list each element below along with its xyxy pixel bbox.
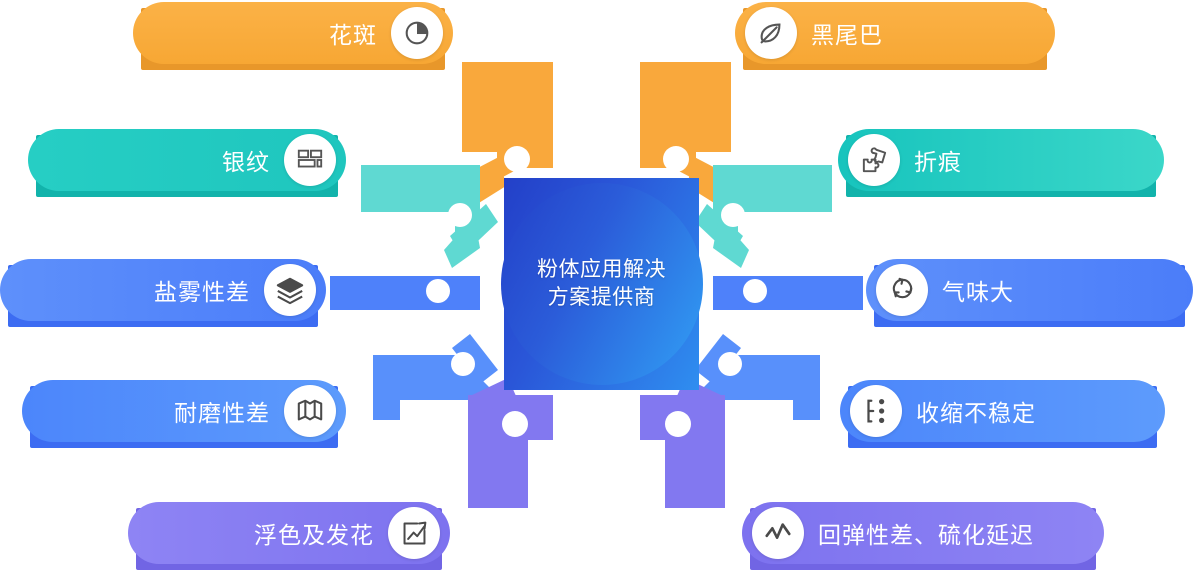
node-label: 气味大: [942, 273, 1014, 307]
connector-dot: [665, 411, 691, 437]
node-pill: 折痕: [838, 129, 1164, 191]
connector-dot: [743, 279, 767, 303]
node-n10[interactable]: 回弹性差、硫化延迟: [742, 502, 1104, 564]
node-pill: 银纹: [28, 129, 346, 191]
connector-n8: [695, 334, 820, 420]
pie-chart-icon: [391, 7, 443, 59]
connector-dot: [663, 146, 689, 172]
connector-dot: [426, 279, 450, 303]
connector-n10: [640, 378, 725, 508]
node-pill: 气味大: [866, 259, 1193, 321]
connector-dot: [451, 352, 475, 376]
puzzle-icon: [848, 134, 900, 186]
layers-icon: [264, 264, 316, 316]
node-label: 回弹性差、硫化延迟: [818, 516, 1034, 550]
node-label: 花斑: [329, 16, 377, 50]
node-n1[interactable]: 花斑: [133, 2, 453, 64]
node-pill: 耐磨性差: [22, 380, 346, 442]
connector-n7: [373, 334, 498, 420]
node-n8[interactable]: 收缩不稳定: [840, 380, 1165, 442]
center-node[interactable]: 粉体应用解决 方案提供商: [504, 178, 699, 390]
node-pill: 回弹性差、硫化延迟: [742, 502, 1104, 564]
node-label: 银纹: [222, 143, 270, 177]
node-n4[interactable]: 折痕: [838, 129, 1164, 191]
node-label: 折痕: [914, 143, 962, 177]
node-pill: 收缩不稳定: [840, 380, 1165, 442]
connector-dot: [504, 146, 530, 172]
recycle-icon: [876, 264, 928, 316]
node-label: 收缩不稳定: [916, 394, 1036, 428]
node-n3[interactable]: 银纹: [28, 129, 346, 191]
connector-n6: [713, 276, 863, 310]
node-n2[interactable]: 黑尾巴: [735, 2, 1055, 64]
sitemap-icon: [850, 385, 902, 437]
node-n9[interactable]: 浮色及发花: [128, 502, 450, 564]
brick-wall-icon: [284, 134, 336, 186]
node-pill: 盐雾性差: [0, 259, 326, 321]
node-label: 耐磨性差: [174, 394, 270, 428]
node-label: 黑尾巴: [811, 16, 883, 50]
line-chart-icon: [752, 507, 804, 559]
center-label: 粉体应用解决 方案提供商: [537, 256, 666, 311]
node-pill: 花斑: [133, 2, 453, 64]
connector-n4: [695, 165, 832, 268]
connector-n9: [468, 378, 553, 508]
node-n6[interactable]: 气味大: [866, 259, 1193, 321]
connector-dot: [502, 411, 528, 437]
connector-n3: [361, 165, 498, 268]
trend-up-icon: [388, 507, 440, 559]
node-label: 浮色及发花: [254, 516, 374, 550]
connector-dot: [718, 352, 742, 376]
open-book-icon: [284, 385, 336, 437]
connector-dot: [721, 203, 745, 227]
node-n5[interactable]: 盐雾性差: [0, 259, 326, 321]
node-pill: 浮色及发花: [128, 502, 450, 564]
node-pill: 黑尾巴: [735, 2, 1055, 64]
infographic-diagram: 粉体应用解决 方案提供商 花斑 银纹: [0, 0, 1193, 577]
connector-dot: [448, 203, 472, 227]
node-n7[interactable]: 耐磨性差: [22, 380, 346, 442]
node-label: 盐雾性差: [154, 273, 250, 307]
leaf-icon: [745, 7, 797, 59]
connector-n5: [330, 276, 480, 310]
